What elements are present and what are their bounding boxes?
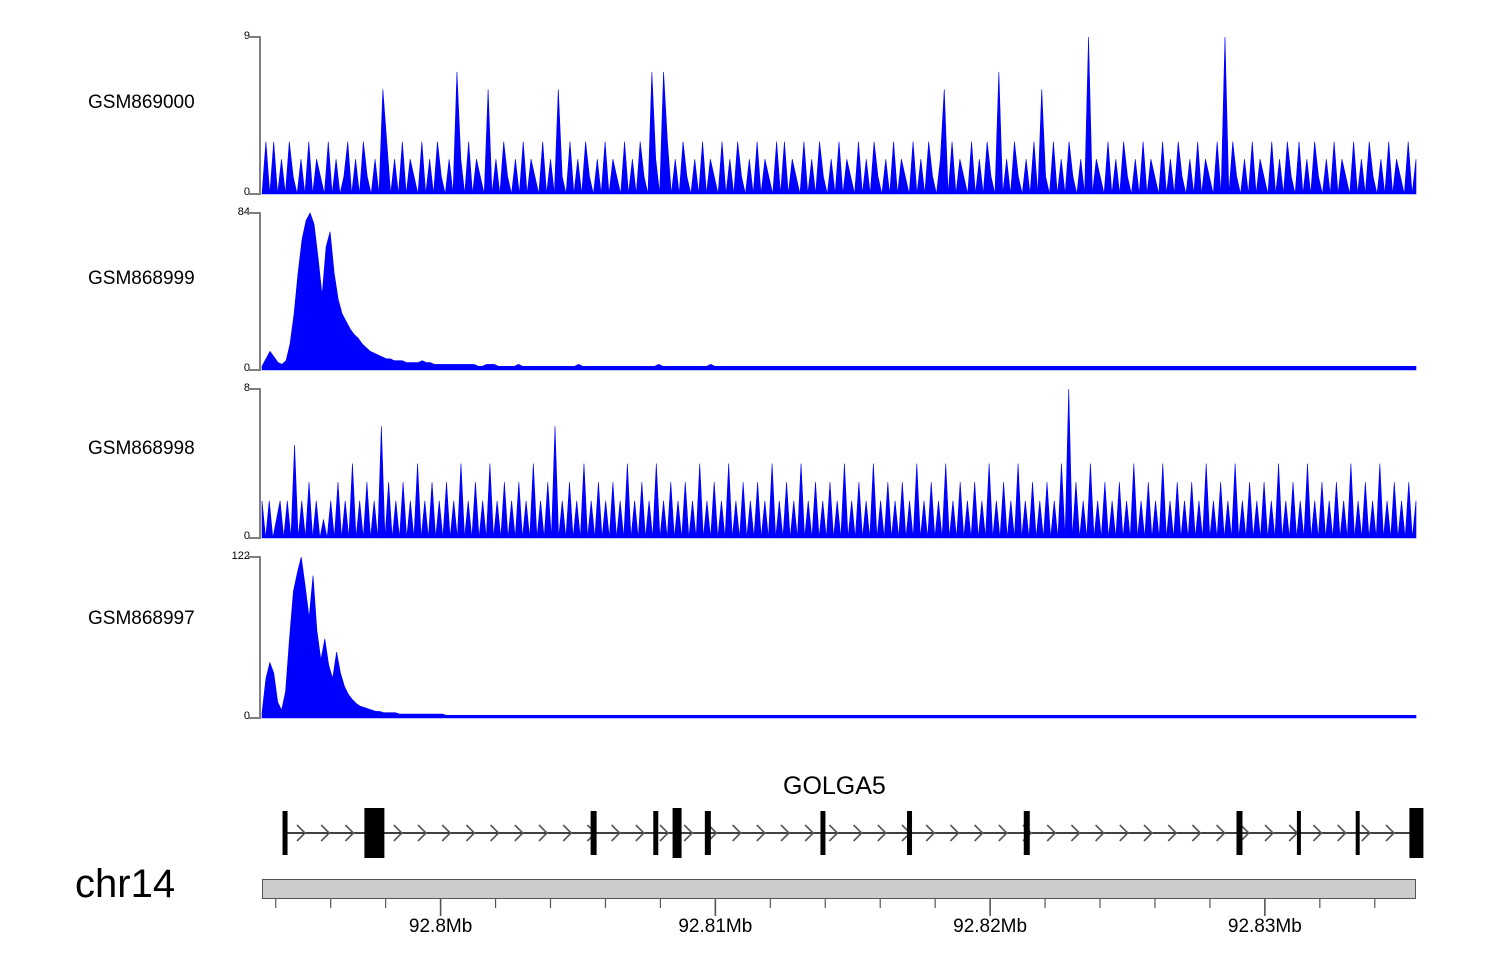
signal-track-GSM869000 xyxy=(0,35,1430,196)
axis-tick-label-2: 92.82Mb xyxy=(920,916,1060,938)
genome-browser: GSM86900090GSM868999840GSM86899880GSM868… xyxy=(0,0,1500,980)
exon[interactable] xyxy=(673,808,682,858)
exon[interactable] xyxy=(283,811,288,855)
signal-track-GSM868999 xyxy=(0,211,1430,372)
signal-area xyxy=(262,389,1416,538)
exon[interactable] xyxy=(1356,811,1360,855)
exon[interactable] xyxy=(653,811,658,855)
ideogram-bar xyxy=(262,879,1416,899)
signal-area xyxy=(262,213,1416,370)
signal-track-GSM868998 xyxy=(0,387,1430,540)
axis-tick-label-1: 92.81Mb xyxy=(645,916,785,938)
gene-name-label: GOLGA5 xyxy=(783,772,886,801)
signal-track-GSM868997 xyxy=(0,555,1430,720)
exon[interactable] xyxy=(364,808,384,858)
signal-area xyxy=(262,557,1416,718)
exon[interactable] xyxy=(1236,811,1242,855)
exon[interactable] xyxy=(705,811,711,855)
axis-tick-label-3: 92.83Mb xyxy=(1195,916,1335,938)
gene-model-track[interactable] xyxy=(0,798,1500,878)
exon[interactable] xyxy=(1409,808,1423,858)
exon[interactable] xyxy=(1024,811,1030,855)
signal-area xyxy=(262,37,1416,194)
axis-tick-label-0: 92.8Mb xyxy=(371,916,511,938)
exon[interactable] xyxy=(820,811,825,855)
exon[interactable] xyxy=(591,811,597,855)
exon[interactable] xyxy=(907,811,912,855)
exon[interactable] xyxy=(1297,811,1301,855)
